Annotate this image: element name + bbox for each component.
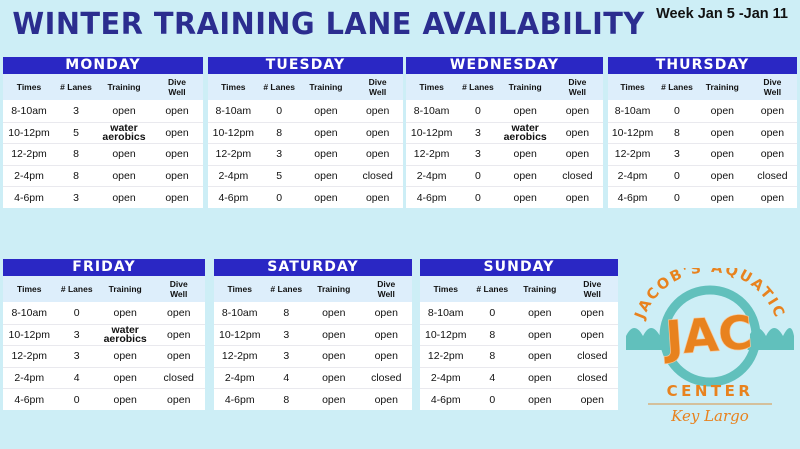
day-table-sunday: SUNDAYTimes# LanesTrainingDiveWell8-10am… [420, 259, 618, 410]
column-header-lanes: # Lanes [55, 74, 97, 101]
column-header-row: Times# LanesTrainingDiveWell [214, 276, 412, 303]
column-header-dive-well: DiveWell [567, 276, 619, 303]
cell-lanes: 0 [56, 303, 98, 325]
table-row: 4-6pm0openopen [420, 389, 618, 411]
jacobs-aquatic-center-logo: JACOB'S AQUATIC JAC CENTER Key Largo [622, 268, 798, 428]
dive-well-line-1: Dive [153, 279, 204, 289]
cell-dive-well: open [352, 122, 403, 144]
cell-time: 4-6pm [3, 187, 55, 209]
logo-center-text: CENTER [667, 382, 754, 400]
logo-svg: JACOB'S AQUATIC JAC CENTER Key Largo [622, 268, 798, 428]
column-header-dive-well: DiveWell [352, 74, 403, 101]
table-row: 12-2pm3openopen [608, 144, 797, 166]
column-header-row: Times# LanesTrainingDiveWell [208, 74, 403, 101]
cell-time: 8-10am [420, 303, 471, 325]
cell-training: open [97, 101, 151, 123]
cell-training: open [513, 389, 566, 411]
column-header-lanes: # Lanes [265, 276, 307, 303]
cell-training: open [499, 165, 552, 187]
day-table-thursday: THURSDAYTimes# LanesTrainingDiveWell8-10… [608, 57, 797, 208]
dive-well-line-2: Well [152, 87, 202, 97]
column-header-training: Training [98, 276, 153, 303]
cell-training: open [697, 187, 748, 209]
schedule-table: Times# LanesTrainingDiveWell8-10am0openo… [608, 74, 797, 208]
cell-lanes: 3 [55, 101, 97, 123]
cell-lanes: 3 [265, 346, 307, 368]
dive-well-line-1: Dive [568, 279, 618, 289]
column-header-row: Times# LanesTrainingDiveWell [406, 74, 603, 101]
table-row: 4-6pm0openopen [3, 389, 205, 411]
cell-lanes: 3 [56, 346, 98, 368]
cell-dive-well: open [151, 122, 203, 144]
cell-dive-well: open [352, 101, 403, 123]
cell-time: 10-12pm [3, 324, 56, 346]
cell-time: 8-10am [3, 303, 56, 325]
cell-training: open [697, 122, 748, 144]
cell-training: open [307, 389, 360, 411]
cell-training: open [97, 144, 151, 166]
cell-training: open [697, 144, 748, 166]
cell-training: open [697, 165, 748, 187]
dive-well-line-2: Well [749, 87, 796, 97]
table-row: 8-10am0openopen [420, 303, 618, 325]
column-header-times: Times [208, 74, 259, 101]
table-row: 2-4pm0openclosed [406, 165, 603, 187]
cell-time: 2-4pm [208, 165, 259, 187]
cell-dive-well: open [567, 303, 619, 325]
cell-time: 4-6pm [420, 389, 471, 411]
cell-lanes: 8 [265, 389, 307, 411]
cell-dive-well: open [151, 101, 203, 123]
column-header-times: Times [406, 74, 457, 101]
cell-time: 12-2pm [214, 346, 265, 368]
cell-lanes: 3 [657, 144, 697, 166]
cell-time: 4-6pm [3, 389, 56, 411]
column-header-row: Times# LanesTrainingDiveWell [608, 74, 797, 101]
column-header-training: Training [697, 74, 748, 101]
table-row: 2-4pm0openclosed [608, 165, 797, 187]
cell-lanes: 4 [56, 367, 98, 389]
cell-time: 2-4pm [214, 367, 265, 389]
cell-dive-well: open [152, 324, 205, 346]
column-header-dive-well: DiveWell [151, 74, 203, 101]
column-header-times: Times [3, 74, 55, 101]
day-header-friday: FRIDAY [3, 259, 205, 276]
cell-dive-well: open [352, 144, 403, 166]
day-header-thursday: THURSDAY [608, 57, 797, 74]
column-header-lanes: # Lanes [457, 74, 498, 101]
table-row: 10-12pm5wateraerobicsopen [3, 122, 203, 144]
cell-time: 4-6pm [214, 389, 265, 411]
cell-dive-well: open [151, 165, 203, 187]
table-row: 8-10am3openopen [3, 101, 203, 123]
column-header-training: Training [513, 276, 566, 303]
cell-dive-well: open [567, 324, 619, 346]
cell-time: 12-2pm [420, 346, 471, 368]
cell-training: open [697, 101, 748, 123]
cell-lanes: 3 [55, 187, 97, 209]
cell-dive-well: open [748, 144, 797, 166]
cell-lanes: 4 [265, 367, 307, 389]
cell-training: open [300, 187, 353, 209]
cell-dive-well: open [151, 187, 203, 209]
cell-training: open [307, 367, 360, 389]
cell-dive-well: open [552, 187, 603, 209]
column-header-dive-well: DiveWell [361, 276, 413, 303]
cell-training: open [513, 324, 566, 346]
dive-well-line-2: Well [568, 289, 618, 299]
cell-training: open [499, 144, 552, 166]
cell-time: 8-10am [3, 101, 55, 123]
column-header-times: Times [3, 276, 56, 303]
table-row: 10-12pm3wateraerobicsopen [406, 122, 603, 144]
cell-lanes: 3 [265, 324, 307, 346]
table-row: 4-6pm3openopen [3, 187, 203, 209]
cell-dive-well: open [151, 144, 203, 166]
cell-training: open [97, 187, 151, 209]
cell-lanes: 8 [55, 144, 97, 166]
cell-time: 2-4pm [420, 367, 471, 389]
cell-dive-well: open [361, 324, 413, 346]
cell-dive-well: open [152, 389, 205, 411]
cell-lanes: 0 [259, 101, 300, 123]
cell-lanes: 0 [457, 165, 498, 187]
column-header-times: Times [214, 276, 265, 303]
column-header-times: Times [608, 74, 657, 101]
cell-training: open [98, 346, 153, 368]
table-row: 8-10am0openopen [406, 101, 603, 123]
column-header-training: Training [499, 74, 552, 101]
cell-training: open [513, 367, 566, 389]
cell-training: open [513, 346, 566, 368]
cell-dive-well: open [748, 122, 797, 144]
dive-well-line-1: Dive [553, 77, 602, 87]
cell-dive-well: open [152, 303, 205, 325]
table-row: 10-12pm8openopen [608, 122, 797, 144]
cell-time: 4-6pm [406, 187, 457, 209]
cell-lanes: 8 [259, 122, 300, 144]
table-row: 8-10am0openopen [208, 101, 403, 123]
column-header-dive-well: DiveWell [748, 74, 797, 101]
day-header-wednesday: WEDNESDAY [406, 57, 603, 74]
cell-time: 12-2pm [3, 346, 56, 368]
cell-lanes: 0 [259, 187, 300, 209]
cell-time: 12-2pm [208, 144, 259, 166]
cell-lanes: 3 [259, 144, 300, 166]
cell-training: open [307, 324, 360, 346]
cell-time: 8-10am [208, 101, 259, 123]
schedule-table: Times# LanesTrainingDiveWell8-10am0openo… [3, 276, 205, 410]
day-header-tuesday: TUESDAY [208, 57, 403, 74]
logo-location-text: Key Largo [670, 407, 749, 425]
cell-time: 4-6pm [208, 187, 259, 209]
cell-training: open [307, 346, 360, 368]
column-header-dive-well: DiveWell [152, 276, 205, 303]
cell-time: 10-12pm [420, 324, 471, 346]
cell-time: 12-2pm [608, 144, 657, 166]
cell-dive-well: open [352, 187, 403, 209]
cell-dive-well: open [748, 101, 797, 123]
cell-time: 10-12pm [214, 324, 265, 346]
day-table-saturday: SATURDAYTimes# LanesTrainingDiveWell8-10… [214, 259, 412, 410]
cell-time: 8-10am [608, 101, 657, 123]
cell-lanes: 0 [471, 303, 513, 325]
cell-training: open [307, 303, 360, 325]
dive-well-line-2: Well [362, 289, 412, 299]
table-row: 8-10am0openopen [3, 303, 205, 325]
table-row: 4-6pm0openopen [208, 187, 403, 209]
cell-dive-well: closed [152, 367, 205, 389]
cell-time: 4-6pm [608, 187, 657, 209]
table-row: 2-4pm5openclosed [208, 165, 403, 187]
cell-lanes: 8 [55, 165, 97, 187]
cell-training: open [300, 144, 353, 166]
cell-time: 10-12pm [208, 122, 259, 144]
day-table-wednesday: WEDNESDAYTimes# LanesTrainingDiveWell8-1… [406, 57, 603, 208]
cell-lanes: 0 [657, 101, 697, 123]
table-row: 8-10am0openopen [608, 101, 797, 123]
cell-lanes: 0 [657, 187, 697, 209]
table-row: 10-12pm8openopen [208, 122, 403, 144]
cell-lanes: 3 [457, 144, 498, 166]
table-row: 2-4pm4openclosed [420, 367, 618, 389]
table-row: 10-12pm8openopen [420, 324, 618, 346]
table-row: 12-2pm3openopen [214, 346, 412, 368]
cell-training: open [97, 165, 151, 187]
cell-time: 10-12pm [608, 122, 657, 144]
cell-lanes: 0 [457, 101, 498, 123]
table-row: 12-2pm8openopen [3, 144, 203, 166]
dive-well-line-2: Well [553, 87, 602, 97]
cell-time: 8-10am [406, 101, 457, 123]
cell-lanes: 0 [457, 187, 498, 209]
cell-dive-well: open [361, 346, 413, 368]
cell-time: 2-4pm [608, 165, 657, 187]
column-header-row: Times# LanesTrainingDiveWell [3, 74, 203, 101]
cell-time: 12-2pm [3, 144, 55, 166]
cell-time: 10-12pm [406, 122, 457, 144]
table-row: 12-2pm8openclosed [420, 346, 618, 368]
cell-training: open [513, 303, 566, 325]
cell-lanes: 4 [471, 367, 513, 389]
column-header-lanes: # Lanes [56, 276, 98, 303]
cell-dive-well: closed [748, 165, 797, 187]
cell-dive-well: open [552, 101, 603, 123]
cell-training: wateraerobics [98, 324, 153, 346]
day-table-tuesday: TUESDAYTimes# LanesTrainingDiveWell8-10a… [208, 57, 403, 208]
column-header-dive-well: DiveWell [552, 74, 603, 101]
schedule-table: Times# LanesTrainingDiveWell8-10am0openo… [208, 74, 403, 208]
schedule-table: Times# LanesTrainingDiveWell8-10am8openo… [214, 276, 412, 410]
cell-lanes: 0 [56, 389, 98, 411]
dive-well-line-1: Dive [362, 279, 412, 289]
table-row: 10-12pm3wateraerobicsopen [3, 324, 205, 346]
cell-lanes: 0 [657, 165, 697, 187]
cell-lanes: 0 [471, 389, 513, 411]
column-header-training: Training [307, 276, 360, 303]
cell-training: open [499, 187, 552, 209]
dive-well-line-2: Well [153, 289, 204, 299]
cell-training: open [300, 122, 353, 144]
column-header-training: Training [97, 74, 151, 101]
cell-dive-well: open [361, 389, 413, 411]
table-row: 12-2pm3openopen [406, 144, 603, 166]
table-row: 2-4pm4openclosed [214, 367, 412, 389]
table-row: 10-12pm3openopen [214, 324, 412, 346]
table-row: 12-2pm3openopen [208, 144, 403, 166]
column-header-training: Training [300, 74, 353, 101]
table-row: 4-6pm0openopen [608, 187, 797, 209]
column-header-row: Times# LanesTrainingDiveWell [3, 276, 205, 303]
cell-lanes: 5 [55, 122, 97, 144]
day-table-monday: MONDAYTimes# LanesTrainingDiveWell8-10am… [3, 57, 203, 208]
cell-lanes: 3 [457, 122, 498, 144]
cell-time: 12-2pm [406, 144, 457, 166]
table-row: 8-10am8openopen [214, 303, 412, 325]
day-table-friday: FRIDAYTimes# LanesTrainingDiveWell8-10am… [3, 259, 205, 410]
table-row: 2-4pm4openclosed [3, 367, 205, 389]
cell-training: wateraerobics [97, 122, 151, 144]
logo-monogram: JAC [661, 305, 754, 365]
schedule-table: Times# LanesTrainingDiveWell8-10am3openo… [3, 74, 203, 208]
cell-dive-well: open [748, 187, 797, 209]
table-row: 2-4pm8openopen [3, 165, 203, 187]
cell-time: 2-4pm [3, 165, 55, 187]
day-header-sunday: SUNDAY [420, 259, 618, 276]
cell-training: open [499, 101, 552, 123]
table-row: 12-2pm3openopen [3, 346, 205, 368]
cell-training: open [98, 303, 153, 325]
day-header-saturday: SATURDAY [214, 259, 412, 276]
column-header-times: Times [420, 276, 471, 303]
cell-training: open [98, 367, 153, 389]
cell-dive-well: closed [567, 367, 619, 389]
column-header-lanes: # Lanes [259, 74, 300, 101]
cell-lanes: 5 [259, 165, 300, 187]
cell-dive-well: closed [552, 165, 603, 187]
column-header-lanes: # Lanes [471, 276, 513, 303]
cell-dive-well: open [361, 303, 413, 325]
column-header-row: Times# LanesTrainingDiveWell [420, 276, 618, 303]
table-row: 4-6pm0openopen [406, 187, 603, 209]
cell-training: open [98, 389, 153, 411]
cell-dive-well: closed [361, 367, 413, 389]
cell-training: open [300, 101, 353, 123]
column-header-lanes: # Lanes [657, 74, 697, 101]
cell-dive-well: closed [567, 346, 619, 368]
day-header-monday: MONDAY [3, 57, 203, 74]
dive-well-line-1: Dive [353, 77, 402, 87]
cell-lanes: 8 [471, 324, 513, 346]
cell-dive-well: closed [352, 165, 403, 187]
cell-dive-well: open [552, 144, 603, 166]
cell-training: wateraerobics [499, 122, 552, 144]
dive-well-line-1: Dive [749, 77, 796, 87]
cell-lanes: 3 [56, 324, 98, 346]
dive-well-line-1: Dive [152, 77, 202, 87]
cell-dive-well: open [552, 122, 603, 144]
cell-dive-well: open [567, 389, 619, 411]
table-row: 4-6pm8openopen [214, 389, 412, 411]
cell-lanes: 8 [265, 303, 307, 325]
schedule-table: Times# LanesTrainingDiveWell8-10am0openo… [420, 276, 618, 410]
cell-dive-well: open [152, 346, 205, 368]
schedule-table: Times# LanesTrainingDiveWell8-10am0openo… [406, 74, 603, 208]
cell-time: 2-4pm [3, 367, 56, 389]
cell-lanes: 8 [471, 346, 513, 368]
dive-well-line-2: Well [353, 87, 402, 97]
cell-time: 10-12pm [3, 122, 55, 144]
cell-time: 2-4pm [406, 165, 457, 187]
cell-training: open [300, 165, 353, 187]
cell-time: 8-10am [214, 303, 265, 325]
cell-lanes: 8 [657, 122, 697, 144]
